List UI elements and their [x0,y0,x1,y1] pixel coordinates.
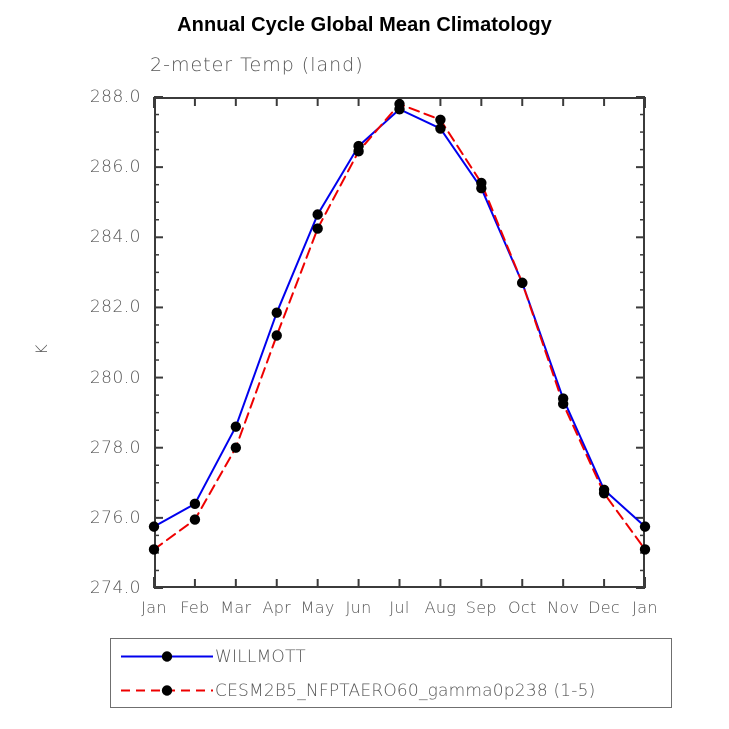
legend-label-cesm2b5: CESM2B5_NFPTAERO60_gamma0p238 (1-5) [215,681,596,701]
data-point [394,99,404,109]
plot-canvas [154,97,645,588]
x-tick-label: Jan [141,598,167,617]
x-tick-label: Jul [389,598,409,617]
x-tick-label: Dec [588,598,620,617]
chart-subtitle: 2-meter Temp (land) [150,54,364,76]
data-point [353,146,363,156]
data-point [190,514,200,524]
series-line-1 [154,104,645,549]
y-tick-label: 274.0 [90,578,141,598]
legend-item-1[interactable]: CESM2B5_NFPTAERO60_gamma0p238 (1-5) [111,673,671,708]
data-point [149,544,159,554]
x-tick-label: May [301,598,335,617]
data-point [476,178,486,188]
x-tick-label: Nov [547,598,579,617]
data-series [149,99,650,555]
data-point [190,499,200,509]
x-tick-label: Aug [425,598,457,617]
data-point [517,278,527,288]
legend-swatch-solid-line [119,639,215,674]
legend-swatch-dashed-line [119,673,215,708]
y-tick-label: 286.0 [90,157,141,177]
y-axis-tick-labels: 288.0286.0284.0282.0280.0278.0276.0274.0 [0,0,141,729]
x-tick-label: Sep [466,598,497,617]
x-tick-label: Apr [262,598,291,617]
data-point [231,443,241,453]
data-point [149,521,159,531]
data-point [640,521,650,531]
legend-item-0[interactable]: WILLMOTT [111,639,671,674]
y-tick-label: 288.0 [90,87,141,107]
data-point [272,307,282,317]
climatology-figure: Annual Cycle Global Mean Climatology 2-m… [0,0,729,729]
data-point [312,223,322,233]
data-point [558,399,568,409]
data-point [312,209,322,219]
y-tick-label: 282.0 [90,297,141,317]
data-point [640,544,650,554]
legend: WILLMOTT CESM2B5_NFPTAERO60_gamma0p238 (… [110,638,672,708]
x-tick-label: Mar [220,598,251,617]
x-tick-label: Jun [346,598,372,617]
x-tick-label: Jan [632,598,658,617]
y-tick-label: 276.0 [90,508,141,528]
y-tick-label: 278.0 [90,438,141,458]
data-point [272,330,282,340]
legend-label-willmott: WILLMOTT [215,647,306,667]
x-tick-label: Feb [180,598,209,617]
y-tick-label: 280.0 [90,368,141,388]
data-point [435,115,445,125]
y-tick-label: 284.0 [90,227,141,247]
data-point [231,421,241,431]
x-tick-label: Oct [508,598,537,617]
data-point [599,488,609,498]
axis-ticks [154,97,645,588]
